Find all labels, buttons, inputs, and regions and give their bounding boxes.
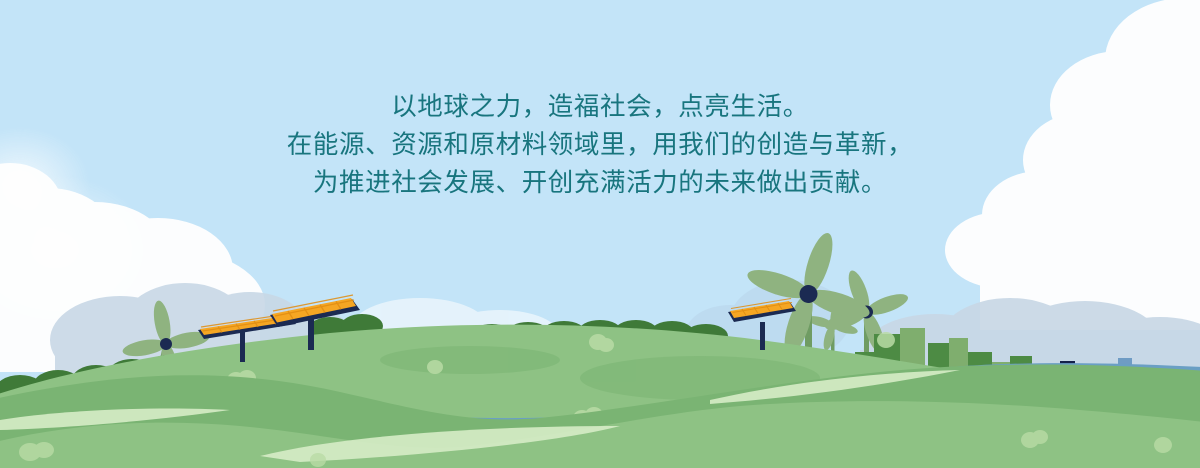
eco-banner: 以地球之力，造福社会，点亮生活。 在能源、资源和原材料领域里，用我们的创造与革新… (0, 0, 1200, 468)
landscape-illustration (0, 0, 1200, 468)
